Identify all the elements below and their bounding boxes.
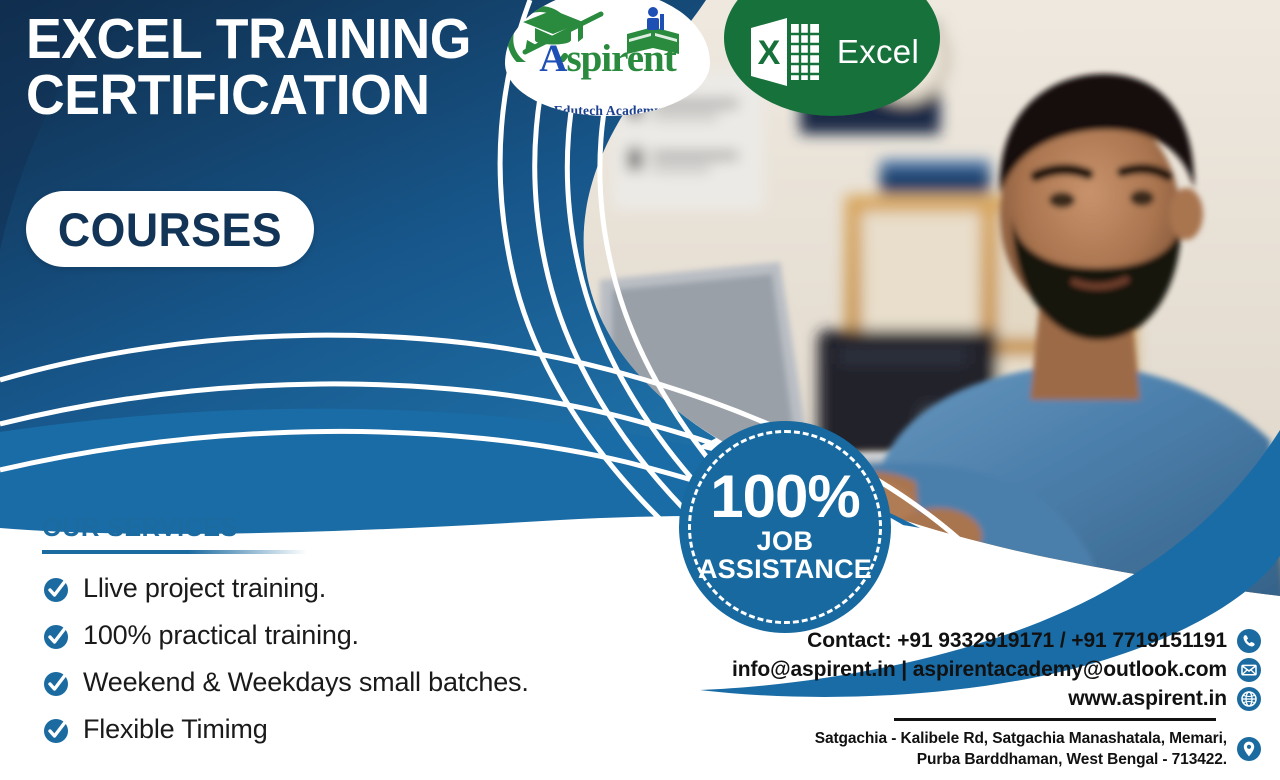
page-title: EXCEL TRAINING CERTIFICATION	[26, 12, 515, 124]
courses-badge: COURSES	[26, 191, 314, 267]
svg-text:X: X	[758, 34, 781, 72]
phone-icon[interactable]	[1236, 628, 1262, 654]
contact-address-row: Satgachia - Kalibele Rd, Satgachia Manas…	[642, 728, 1262, 771]
poster-canvas: EXCEL TRAINING CERTIFICATION COURSES	[0, 0, 1280, 780]
services-list: Llive project training. 100% practical t…	[42, 573, 662, 745]
brand-logo: Aspirent Edutech Academy "Apprise Educat…	[505, 0, 710, 116]
badge-percent: 100%	[710, 471, 859, 523]
contact-email-text: info@aspirent.in | aspirentacademy@outlo…	[732, 658, 1227, 682]
list-item: Weekend & Weekdays small batches.	[42, 667, 662, 698]
logo-initial: A	[539, 37, 566, 80]
excel-spreadsheet-icon: X	[745, 12, 825, 92]
list-item: Llive project training.	[42, 573, 662, 604]
contact-phone-row[interactable]: Contact: +91 9332919171 / +91 7719151191	[642, 628, 1262, 654]
job-assistance-badge: 100% JOB ASSISTANCE	[679, 421, 891, 633]
logo-name-rest: spirent	[566, 37, 675, 80]
address-line-2: Purba Barddhaman, West Bengal - 713422.	[815, 749, 1227, 770]
list-item: 100% practical training.	[42, 620, 662, 651]
logo-wordmark: Aspirent	[505, 36, 710, 81]
address-divider	[894, 718, 1216, 721]
contact-website-text: www.aspirent.in	[1068, 687, 1227, 711]
check-circle-icon	[42, 715, 72, 745]
services-divider	[42, 550, 307, 554]
student-icon	[647, 7, 664, 30]
address-text: Satgachia - Kalibele Rd, Satgachia Manas…	[815, 728, 1227, 771]
contact-website-row[interactable]: www.aspirent.in	[642, 686, 1262, 712]
badge-line-2: ASSISTANCE	[698, 556, 872, 584]
check-circle-icon	[42, 574, 72, 604]
list-item-label: Llive project training.	[83, 573, 326, 604]
address-line-1: Satgachia - Kalibele Rd, Satgachia Manas…	[815, 728, 1227, 749]
excel-label: Excel	[837, 33, 919, 71]
globe-icon[interactable]	[1236, 686, 1262, 712]
logo-subtitle: Edutech Academy	[505, 103, 710, 116]
services-title: OUR SERVICES	[42, 512, 631, 543]
contact-section: Contact: +91 9332919171 / +91 7719151191…	[642, 628, 1262, 770]
check-circle-icon	[42, 668, 72, 698]
courses-label: COURSES	[58, 202, 282, 257]
map-pin-icon[interactable]	[1236, 736, 1262, 762]
list-item-label: Flexible Timimg	[83, 714, 268, 745]
headline-line-2: CERTIFICATION	[26, 68, 515, 124]
badge-line-1: JOB	[757, 528, 814, 556]
list-item: Flexible Timimg	[42, 714, 662, 745]
envelope-icon[interactable]	[1236, 657, 1262, 683]
headline-line-1: EXCEL TRAINING	[26, 12, 515, 68]
contact-email-row[interactable]: info@aspirent.in | aspirentacademy@outlo…	[642, 657, 1262, 683]
list-item-label: 100% practical training.	[83, 620, 359, 651]
check-circle-icon	[42, 621, 72, 651]
services-section: OUR SERVICES Llive project training. 100…	[42, 512, 662, 761]
contact-phone-text: Contact: +91 9332919171 / +91 7719151191	[807, 629, 1227, 653]
list-item-label: Weekend & Weekdays small batches.	[83, 667, 529, 698]
